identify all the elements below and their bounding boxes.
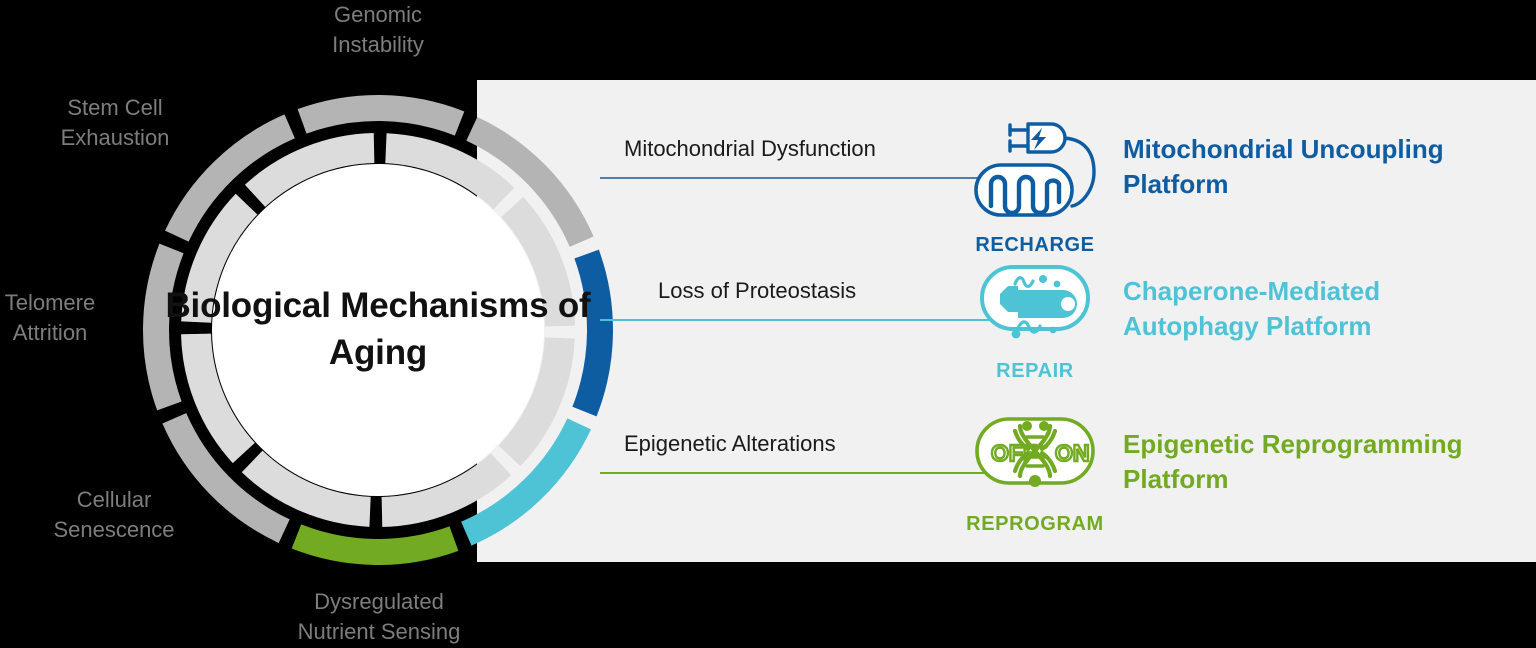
donut-core bbox=[212, 164, 544, 496]
ring-label-cellular-senescence: Cellular Senescence bbox=[9, 485, 219, 546]
ring-label-genomic-instability: Genomic Instability bbox=[268, 0, 488, 61]
plug-coil-icon bbox=[960, 114, 1110, 230]
connector-line-recharge bbox=[600, 177, 1005, 179]
platform-label-epigenetic-reprogramming: Epigenetic Reprogramming Platform bbox=[1123, 427, 1523, 496]
platform-row-recharge: Mitochondrial Dysfunction bbox=[600, 130, 1520, 240]
ring-label-stem-cell-exhaustion: Stem Cell Exhaustion bbox=[10, 93, 220, 154]
icon-block-reprogram: OFF ON bbox=[955, 409, 1115, 536]
wrench-icon bbox=[960, 256, 1110, 356]
connector-line-repair bbox=[600, 319, 1005, 321]
platform-label-chaperone-mediated-autophagy: Chaperone-Mediated Autophagy Platform bbox=[1123, 274, 1523, 343]
connector-line-reprogram bbox=[600, 472, 1005, 474]
platform-row-reprogram: Epigenetic Alterations OFF ON bbox=[600, 425, 1520, 535]
diagram-canvas: Biological Mechanisms of Aging Genomic I… bbox=[0, 0, 1536, 644]
on-label: ON bbox=[1055, 440, 1090, 466]
icon-caption-recharge: RECHARGE bbox=[975, 234, 1094, 257]
icon-caption-repair: REPAIR bbox=[996, 360, 1074, 383]
ring-label-telomere-attrition: Telomere Attrition bbox=[0, 288, 155, 349]
platform-row-repair: Loss of Proteostasis bbox=[600, 272, 1520, 382]
icon-block-recharge: RECHARGE bbox=[955, 114, 1115, 257]
platform-label-mitochondrial-uncoupling: Mitochondrial Uncoupling Platform bbox=[1123, 132, 1523, 201]
mechanism-label-epigenetic-alterations: Epigenetic Alterations bbox=[624, 431, 836, 457]
ring-label-dysregulated-nutrient-sensing: Dysregulated Nutrient Sensing bbox=[254, 587, 504, 648]
dna-off-on-icon: OFF ON bbox=[960, 409, 1110, 509]
icon-block-repair: REPAIR bbox=[955, 256, 1115, 383]
icon-caption-reprogram: REPROGRAM bbox=[966, 513, 1104, 536]
mechanism-label-loss-of-proteostasis: Loss of Proteostasis bbox=[658, 278, 856, 304]
mechanism-label-mitochondrial-dysfunction: Mitochondrial Dysfunction bbox=[624, 136, 876, 162]
